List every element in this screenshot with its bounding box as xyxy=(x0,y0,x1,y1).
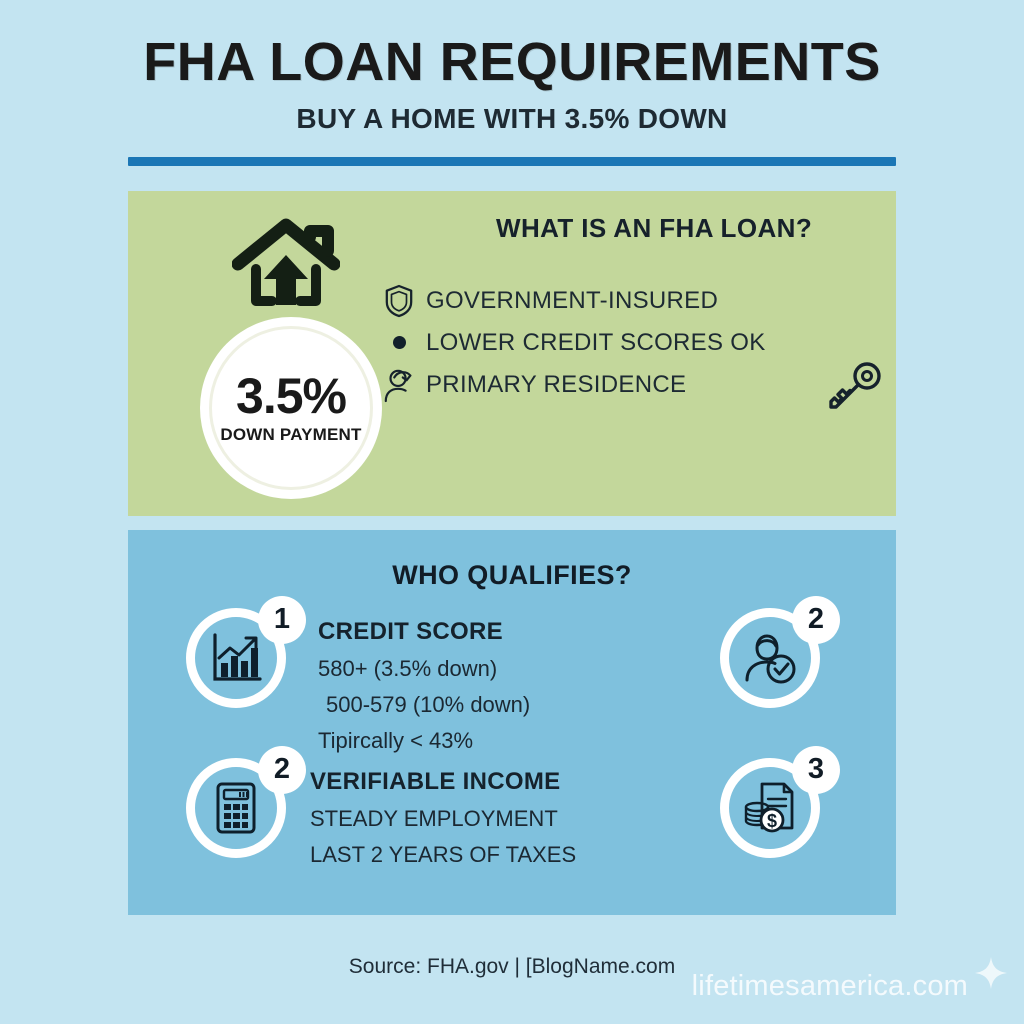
title-divider xyxy=(128,157,896,166)
person-check-icon xyxy=(372,367,426,403)
down-payment-badge: 3.5% DOWN PAYMENT xyxy=(200,317,382,499)
step-number-badge: 2 xyxy=(258,746,306,794)
feature-label: PRIMARY RESIDENCE xyxy=(426,371,686,399)
down-payment-value: 3.5% xyxy=(236,371,346,421)
infographic-header: FHA LOAN REQUIREMENTS BUY A HOME WITH 3.… xyxy=(0,0,1024,166)
verifiable-income-title: VERIFIABLE INCOME xyxy=(310,768,576,796)
list-item: PRIMARY RESIDENCE xyxy=(372,364,878,406)
credit-score-icon-circle: 1 xyxy=(186,608,286,708)
what-is-fha-panel: 3.5% DOWN PAYMENT WHAT IS AN FHA LOAN? G… xyxy=(128,191,896,516)
bullet-dot-icon xyxy=(372,336,426,349)
page-subtitle: BUY A HOME WITH 3.5% DOWN xyxy=(0,103,1024,135)
credit-score-block: CREDIT SCORE 580+ (3.5% down) 500-579 (1… xyxy=(318,618,530,754)
watermark-text: lifetimesamerica.com xyxy=(692,970,968,1003)
credit-score-line: Tipircally < 43% xyxy=(318,728,530,754)
page-title: FHA LOAN REQUIREMENTS xyxy=(0,34,1024,91)
verifiable-income-line: LAST 2 YEARS OF TAXES xyxy=(310,842,576,868)
down-payment-label: DOWN PAYMENT xyxy=(220,425,361,445)
list-item: LOWER CREDIT SCORES OK xyxy=(372,322,878,364)
feature-label: LOWER CREDIT SCORES OK xyxy=(426,329,766,357)
verifiable-income-line: STEADY EMPLOYMENT xyxy=(310,806,576,832)
section-heading-who-qualifies: WHO QUALIFIES? xyxy=(128,530,896,591)
fha-definition-group: WHAT IS AN FHA LOAN? GOVERNMENT-INSURED … xyxy=(372,213,878,406)
person-verified-icon-circle: 2 xyxy=(720,608,820,708)
verifiable-income-icon-circle: 2 xyxy=(186,758,286,858)
feature-label: GOVERNMENT-INSURED xyxy=(426,287,718,315)
credit-score-title: CREDIT SCORE xyxy=(318,618,530,646)
bar-chart-growth-icon xyxy=(208,630,264,686)
step-number-badge: 2 xyxy=(792,596,840,644)
step-number-badge: 3 xyxy=(792,746,840,794)
who-qualifies-panel: WHO QUALIFIES? 1 xyxy=(128,530,896,915)
svg-text:$: $ xyxy=(767,811,777,831)
sparkle-icon xyxy=(974,956,1008,990)
credit-score-line: 580+ (3.5% down) xyxy=(318,656,530,682)
shield-icon xyxy=(372,283,426,319)
person-verified-icon xyxy=(742,630,798,686)
down-payment-group: 3.5% DOWN PAYMENT xyxy=(156,209,406,499)
fha-feature-list: GOVERNMENT-INSURED LOWER CREDIT SCORES O… xyxy=(372,280,878,406)
document-coins-icon-circle: $ 3 xyxy=(720,758,820,858)
watermark: lifetimesamerica.com xyxy=(692,956,1008,1016)
list-item: GOVERNMENT-INSURED xyxy=(372,280,878,322)
house-up-arrow-icon xyxy=(232,217,340,309)
section-heading-what-is-fha: WHAT IS AN FHA LOAN? xyxy=(372,213,878,244)
calculator-icon xyxy=(208,780,264,836)
document-coins-icon: $ xyxy=(742,780,798,836)
verifiable-income-block: VERIFIABLE INCOME STEADY EMPLOYMENT LAST… xyxy=(310,768,576,868)
key-icon xyxy=(826,359,884,417)
step-number-badge: 1 xyxy=(258,596,306,644)
credit-score-line: 500-579 (10% down) xyxy=(326,692,530,718)
